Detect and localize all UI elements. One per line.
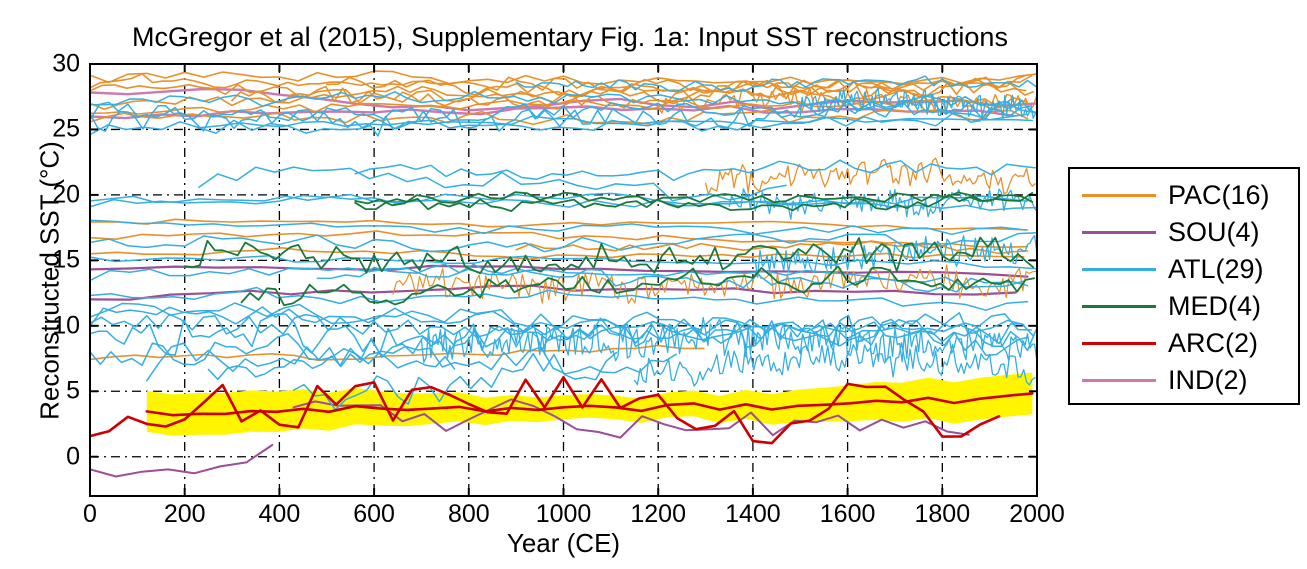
legend-swatch-ind (1082, 379, 1156, 382)
legend-swatch-pac (1082, 194, 1156, 197)
legend-item-arc[interactable]: ARC(2) (1070, 325, 1302, 361)
legend-swatch-med (1082, 305, 1156, 308)
legend-swatch-arc (1082, 342, 1156, 345)
legend-swatch-atl (1082, 268, 1156, 271)
legend-label: SOU(4) (1168, 219, 1260, 246)
legend-item-med[interactable]: MED(4) (1070, 288, 1302, 324)
figure-root: McGregor et al (2015), Supplementary Fig… (0, 0, 1307, 569)
legend-item-ind[interactable]: IND(2) (1070, 362, 1302, 398)
legend-label: ATL(29) (1168, 256, 1264, 283)
legend-label: IND(2) (1168, 367, 1248, 394)
legend-label: ARC(2) (1168, 330, 1258, 357)
legend-swatch-sou (1082, 231, 1156, 234)
legend-item-atl[interactable]: ATL(29) (1070, 251, 1302, 287)
legend-item-sou[interactable]: SOU(4) (1070, 214, 1302, 250)
legend-label: PAC(16) (1168, 182, 1270, 209)
legend-item-pac[interactable]: PAC(16) (1070, 177, 1302, 213)
legend: PAC(16)SOU(4)ATL(29)MED(4)ARC(2)IND(2) (1068, 167, 1300, 405)
legend-label: MED(4) (1168, 293, 1261, 320)
